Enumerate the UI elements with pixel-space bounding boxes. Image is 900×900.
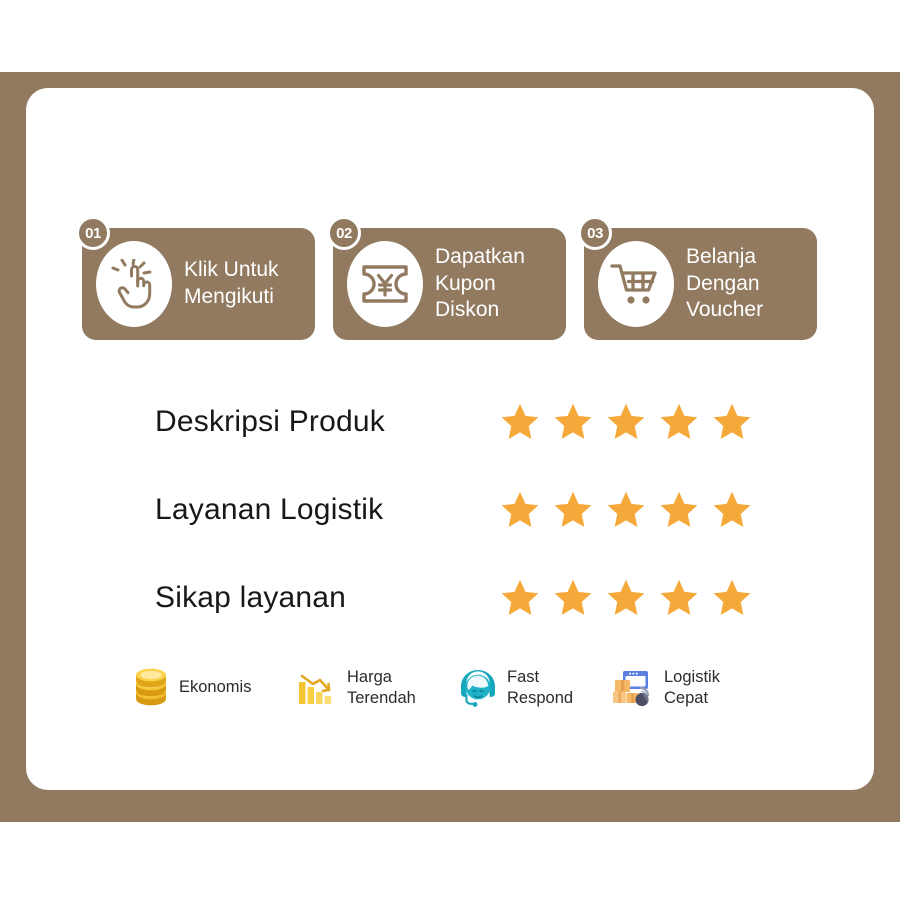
step-label-1: Klik Untuk Mengikuti — [184, 257, 279, 311]
ratings-list: Deskripsi Produk Layanan Logistik — [26, 378, 874, 642]
features-row: Ekonomis Harga Terendah — [130, 666, 830, 710]
star-icon — [498, 489, 542, 531]
step-number-badge-1: 01 — [76, 216, 110, 250]
feature-label: Logistik Cepat — [664, 667, 720, 709]
star-icon — [657, 489, 701, 531]
star-icon — [498, 401, 542, 443]
rating-row-sikap-layanan: Sikap layanan — [26, 554, 874, 642]
rating-stars — [498, 577, 754, 619]
star-icon — [551, 401, 595, 443]
poster-panel: 01 Kli — [26, 88, 874, 790]
feature-ekonomis: Ekonomis — [130, 667, 296, 709]
step-card-3[interactable]: 03 Belanja Dengan Voucher — [584, 228, 817, 340]
click-hand-icon — [96, 241, 172, 327]
feature-harga-terendah: Harga Terendah — [296, 666, 456, 710]
poster-frame: 01 Kli — [0, 72, 900, 822]
star-icon — [498, 577, 542, 619]
rating-row-layanan-logistik: Layanan Logistik — [26, 466, 874, 554]
headset-support-icon — [456, 666, 500, 710]
rating-row-deskripsi-produk: Deskripsi Produk — [26, 378, 874, 466]
star-icon — [604, 489, 648, 531]
star-icon — [710, 401, 754, 443]
rating-label: Layanan Logistik — [155, 493, 383, 527]
star-icon — [657, 577, 701, 619]
step-card-1[interactable]: 01 Kli — [82, 228, 315, 340]
step-number-badge-2: 02 — [327, 216, 361, 250]
star-icon — [710, 577, 754, 619]
star-icon — [710, 489, 754, 531]
star-icon — [604, 401, 648, 443]
feature-label: Ekonomis — [179, 677, 251, 698]
step-card-2[interactable]: 02 Dapatkan Kupon Diskon — [333, 228, 566, 340]
gold-coins-icon — [130, 667, 172, 709]
rating-stars — [498, 401, 754, 443]
feature-label: Harga Terendah — [347, 667, 416, 709]
rating-stars — [498, 489, 754, 531]
coupon-ticket-icon — [347, 241, 423, 327]
feature-logistik-cepat: Logistik Cepat — [611, 667, 771, 709]
feature-fast-respond: Fast Respond — [456, 666, 611, 710]
star-icon — [551, 489, 595, 531]
star-icon — [551, 577, 595, 619]
feature-label: Fast Respond — [507, 667, 573, 709]
step-number-badge-3: 03 — [578, 216, 612, 250]
falling-bar-chart-icon — [296, 666, 340, 710]
rating-label: Sikap layanan — [155, 581, 346, 615]
rating-label: Deskripsi Produk — [155, 405, 385, 439]
step-label-2: Dapatkan Kupon Diskon — [435, 244, 525, 325]
delivery-boxes-icon — [611, 667, 657, 709]
steps-row: 01 Kli — [82, 228, 818, 340]
star-icon — [657, 401, 701, 443]
step-label-3: Belanja Dengan Voucher — [686, 244, 763, 325]
star-icon — [604, 577, 648, 619]
shopping-cart-icon — [598, 241, 674, 327]
